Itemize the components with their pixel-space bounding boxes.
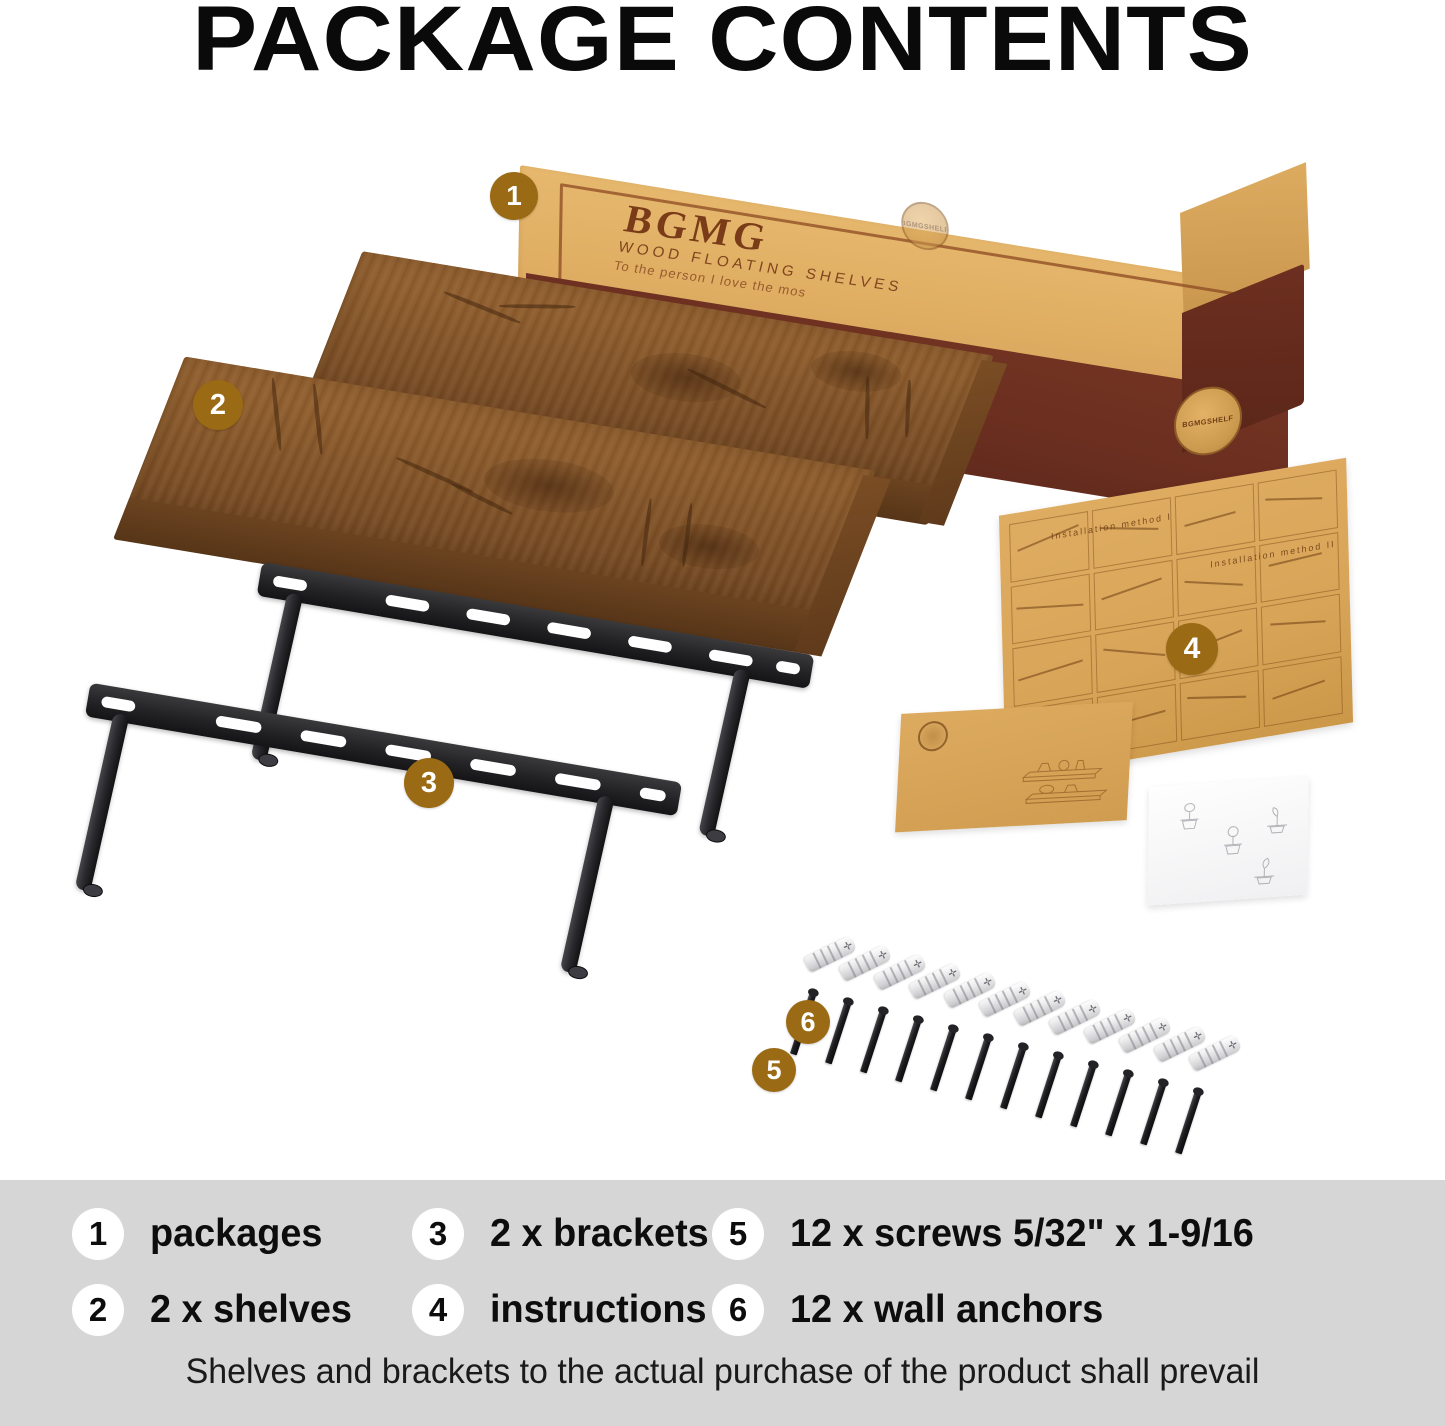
anchor-cross-slot: ✛ [1085, 1003, 1097, 1015]
callout-3-brackets: 3 [404, 758, 454, 808]
anchor-cross-slot: ✛ [1120, 1012, 1132, 1024]
anchor-cross-slot: ✛ [1050, 994, 1062, 1006]
page-title: PACKAGE CONTENTS [0, 0, 1445, 82]
legend-label-instructions: instructions [490, 1288, 706, 1332]
legend-label-shelves: 2 x shelves [150, 1288, 352, 1332]
legend-item-shelves: 2 2 x shelves [72, 1284, 412, 1336]
legend-row-2: 2 2 x shelves 4 instructions 6 12 x wall… [0, 1272, 1445, 1348]
anchor-cross-slot: ✛ [980, 976, 992, 988]
callout-1-package: 1 [490, 172, 538, 220]
product-photo-stage: BGMGSHELF BGMG WOOD FLOATING SHELVES To … [0, 110, 1445, 1175]
anchor-cross-slot: ✛ [1155, 1021, 1167, 1033]
legend-badge-5: 5 [712, 1208, 764, 1260]
legend-label-brackets: 2 x brackets [490, 1212, 709, 1256]
legend-disclaimer: Shelves and brackets to the actual purch… [22, 1352, 1424, 1392]
callout-4-instructions: 4 [1166, 623, 1218, 675]
legend-item-brackets: 3 2 x brackets [412, 1208, 712, 1260]
legend-item-instructions: 4 instructions [412, 1284, 712, 1336]
legend-bar: 1 packages 3 2 x brackets 5 12 x screws … [0, 1180, 1445, 1426]
anchor-cross-slot: ✛ [1225, 1039, 1237, 1051]
legend-item-wall-anchors: 6 12 x wall anchors [712, 1284, 1113, 1336]
legend-label-screws: 12 x screws 5/32" x 1-9/16 [790, 1212, 1254, 1256]
legend-badge-4: 4 [412, 1284, 464, 1336]
legend-badge-2: 2 [72, 1284, 124, 1336]
callout-5-screws: 5 [752, 1048, 796, 1092]
legend-item-packages: 1 packages [72, 1208, 412, 1260]
legend-item-screws: 5 12 x screws 5/32" x 1-9/16 [712, 1208, 1268, 1260]
legend-label-wall-anchors: 12 x wall anchors [790, 1288, 1103, 1332]
legend-badge-1: 1 [72, 1208, 124, 1260]
callout-2-shelves: 2 [193, 380, 243, 430]
anchor-cross-slot: ✛ [840, 940, 852, 952]
legend-rows: 1 packages 3 2 x brackets 5 12 x screws … [0, 1196, 1445, 1348]
anchor-cross-slot: ✛ [945, 967, 957, 979]
legend-badge-6: 6 [712, 1284, 764, 1336]
anchor-cross-slot: ✛ [1015, 985, 1027, 997]
legend-badge-3: 3 [412, 1208, 464, 1260]
legend-row-1: 1 packages 3 2 x brackets 5 12 x screws … [0, 1196, 1445, 1272]
wall-anchors-group: ✛ ✛ ✛ ✛ ✛ ✛ ✛ [0, 110, 1445, 1175]
anchor-cross-slot: ✛ [875, 949, 887, 961]
callout-6-anchors: 6 [786, 1000, 830, 1044]
legend-label-packages: packages [150, 1212, 322, 1256]
anchor-cross-slot: ✛ [1190, 1030, 1202, 1042]
anchor-cross-slot: ✛ [910, 958, 922, 970]
